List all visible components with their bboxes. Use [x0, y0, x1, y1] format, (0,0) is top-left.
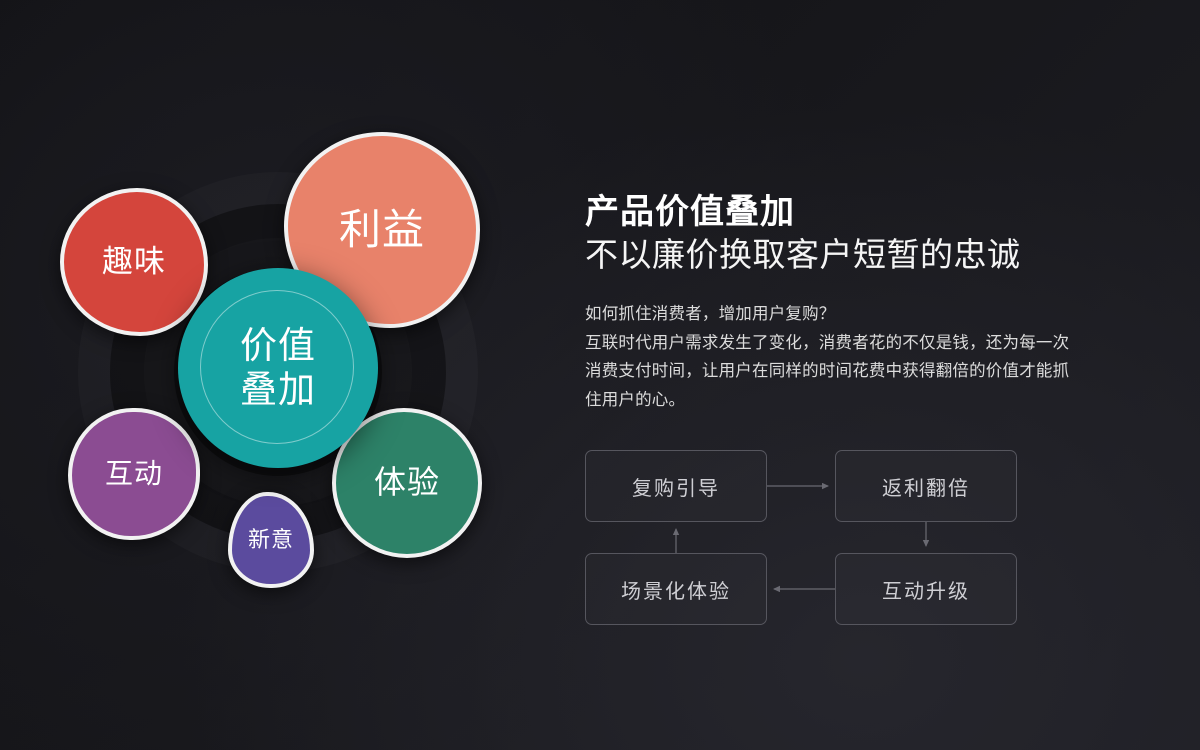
bubble-center-label-line2: 叠加 — [240, 369, 316, 410]
bubble-quwei-label: 趣味 — [102, 245, 166, 280]
bubble-center-label: 价值 叠加 — [240, 324, 316, 411]
flow-node-interaction-upgrade-label: 互动升级 — [882, 575, 970, 604]
content-column: 产品价值叠加 不以廉价换取客户短暂的忠诚 如何抓住消费者，增加用户复购？ 互联时… — [585, 192, 1115, 414]
body-paragraph: 如何抓住消费者，增加用户复购？ 互联时代用户需求发生了变化，消费者花的不仅是钱，… — [585, 300, 1085, 414]
bubble-tiyan-label: 体验 — [374, 465, 440, 501]
flow-node-rebate-double[interactable]: 返利翻倍 — [835, 450, 1017, 522]
flow-node-scenario-experience[interactable]: 场景化体验 — [585, 553, 767, 625]
slide-canvas: 趣味 利益 互动 体验 价值 叠加 新意 产品价值叠加 不以廉价换取客户短暂的忠… — [0, 0, 1200, 750]
bubble-hudong-label: 互动 — [105, 458, 163, 489]
value-bubble-diagram: 趣味 利益 互动 体验 价值 叠加 新意 — [40, 120, 540, 620]
bubble-hudong[interactable]: 互动 — [68, 408, 200, 540]
bubble-xinyi-label: 新意 — [248, 528, 294, 553]
bubble-liyi-label: 利益 — [339, 206, 425, 253]
flow-node-interaction-upgrade[interactable]: 互动升级 — [835, 553, 1017, 625]
flow-node-scenario-experience-label: 场景化体验 — [621, 575, 731, 604]
bubble-xinyi[interactable]: 新意 — [228, 492, 314, 588]
repurchase-flowchart: 复购引导 返利翻倍 场景化体验 互动升级 — [585, 450, 1017, 625]
page-subtitle: 不以廉价换取客户短暂的忠诚 — [585, 235, 1115, 276]
page-title: 产品价值叠加 — [585, 192, 1115, 233]
flow-node-repurchase-guide[interactable]: 复购引导 — [585, 450, 767, 522]
flow-node-rebate-double-label: 返利翻倍 — [882, 472, 970, 501]
bubble-center-label-line1: 价值 — [240, 325, 316, 366]
flow-node-repurchase-guide-label: 复购引导 — [632, 472, 720, 501]
bubble-quwei[interactable]: 趣味 — [60, 188, 208, 336]
bubble-center-value-stack[interactable]: 价值 叠加 — [178, 268, 378, 468]
